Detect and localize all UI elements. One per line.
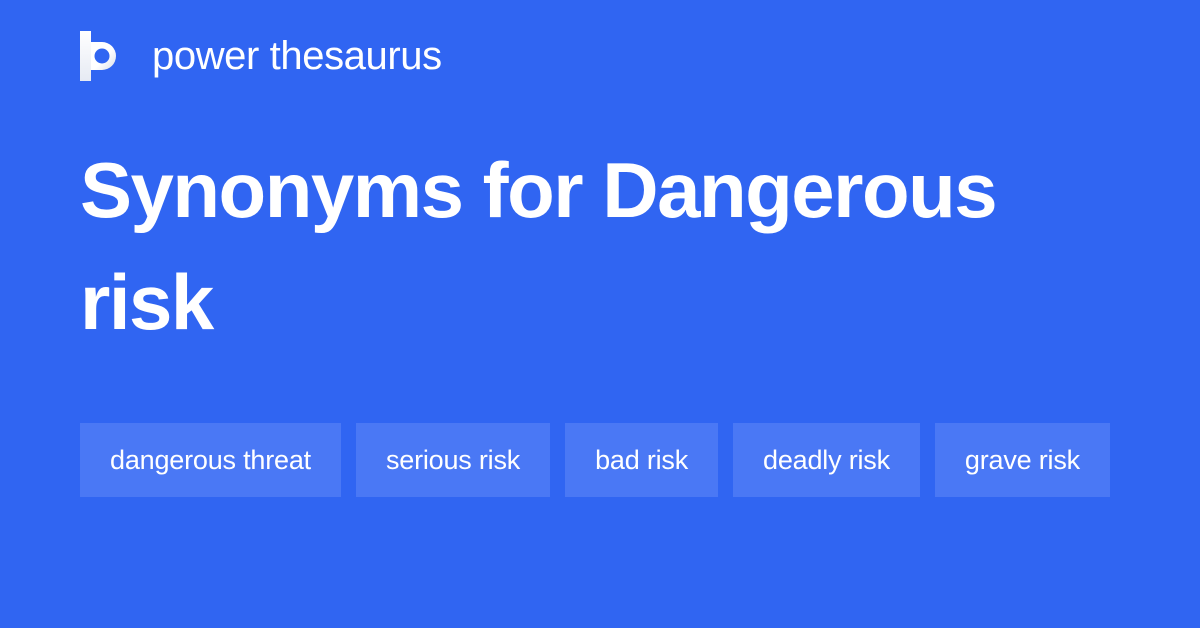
share-card: power thesaurus Synonyms for Dangerous r… xyxy=(0,0,1200,628)
synonym-chip[interactable]: deadly risk xyxy=(733,423,920,497)
brand-name: power thesaurus xyxy=(152,36,442,76)
synonym-chip[interactable]: grave risk xyxy=(935,423,1110,497)
synonym-chip-list: dangerous threat serious risk bad risk d… xyxy=(80,423,1120,497)
brand-logo[interactable]: power thesaurus xyxy=(80,28,442,84)
page-title: Synonyms for Dangerous risk xyxy=(80,134,1090,358)
synonym-chip[interactable]: bad risk xyxy=(565,423,718,497)
power-thesaurus-b-logo-icon xyxy=(80,31,126,81)
synonym-chip[interactable]: serious risk xyxy=(356,423,550,497)
synonym-chip[interactable]: dangerous threat xyxy=(80,423,341,497)
